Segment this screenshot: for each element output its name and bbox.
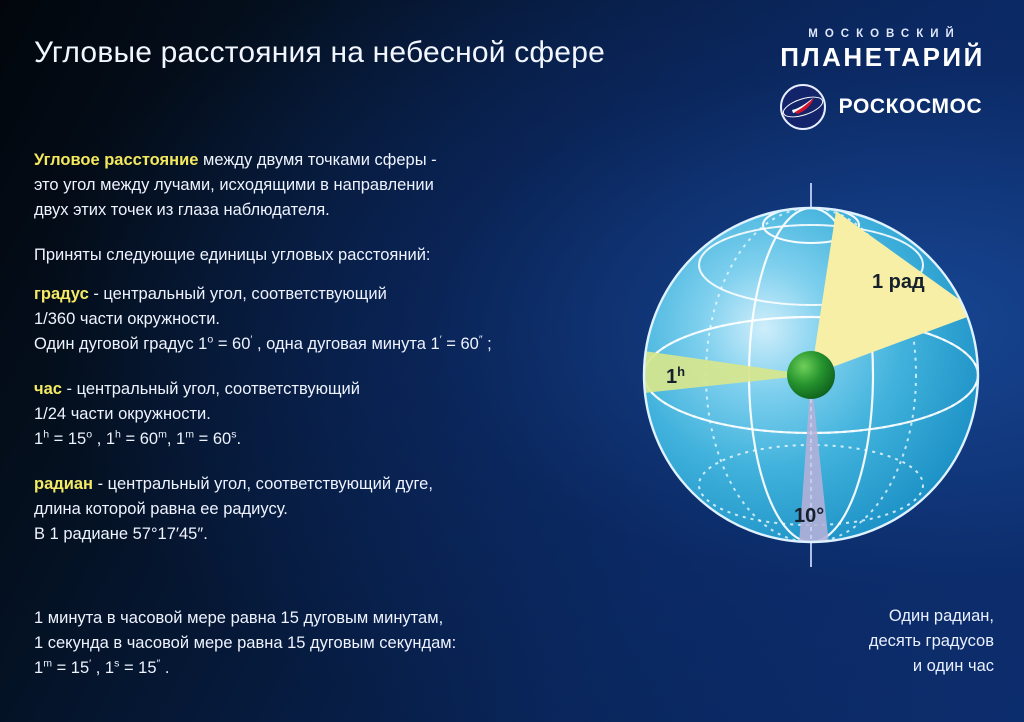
text-column: Угловое расстояние между двумя точками с… [34,148,634,567]
unit-degree-line2: 1/360 части окружности. [34,310,220,328]
conversion-line1: 1 минута в часовой мере равна 15 дуговым… [34,609,443,627]
sector-degree-label: 10° [794,505,824,527]
conversion-line2: 1 секунда в часовой мере равна 15 дуговы… [34,634,456,652]
caption-line3: и один час [913,657,994,675]
sphere-core-observer [787,351,835,399]
unit-radian-block: радиан - центральный угол, соответствующ… [34,472,634,547]
t: 1 [34,430,43,448]
celestial-sphere-figure: 1 рад 1h 10° [630,155,1010,575]
roscosmos-wordmark: РОСКОСМОС [839,95,983,119]
unit-radian-line3: В 1 радиане 57°17′45″. [34,525,208,543]
unit-hour-dash: - центральный угол, соответствующий [62,380,360,398]
t: = 60 [121,430,158,448]
sup-m2: m [185,429,194,441]
definition-rest-line1: между двумя точками сферы - [198,151,436,169]
unit-radian-dash: - центральный угол, соответствующий дуге… [93,475,433,493]
t: = 15 [49,430,86,448]
t: , одна дуговая минута 1 [252,335,439,353]
unit-hour-line2: 1/24 части окружности. [34,405,211,423]
t: = 60 [194,430,231,448]
t: . [160,659,169,677]
logo-top-line: МОСКОВСКИЙ [773,28,996,40]
unit-hour-block: час - центральный угол, соответствующий … [34,377,634,452]
t: , 1 [167,430,185,448]
unit-radian-term: радиан [34,475,93,493]
t: 1 [34,659,43,677]
unit-hour-line3: 1h = 15o , 1h = 60m, 1m = 60s. [34,430,241,448]
t: = 15 [52,659,89,677]
t: = 15 [119,659,156,677]
sector-radian-label: 1 рад [872,271,925,293]
emblem-swoosh-icon [791,97,815,115]
sup-m: m [43,658,52,670]
t: = 60 [213,335,250,353]
conversion-line3: 1m = 15′ , 1s = 15″ . [34,659,169,677]
t: ; [483,335,492,353]
t: Один дуговой градус 1 [34,335,207,353]
unit-degree-term: градус [34,285,89,303]
unit-degree-dash: - центральный угол, соответствующий [89,285,387,303]
definition-term: Угловое расстояние [34,151,198,169]
roscosmos-emblem-icon [780,84,826,130]
t: . [237,430,242,448]
unit-radian-line2: длина которой равна ее радиусу. [34,500,288,518]
page-title: Угловые расстояния на небесной сфере [34,36,605,70]
sector-hour-base: 1 [666,366,677,388]
unit-hour-term: час [34,380,62,398]
planetarium-logo: МОСКОВСКИЙ ПЛАНЕТАРИЙ РОСКОСМОС [766,28,996,130]
unit-degree-block: градус - центральный угол, соответствующ… [34,282,634,357]
t: , 1 [91,659,114,677]
t: , 1 [92,430,115,448]
caption-line1: Один радиан, [889,607,994,625]
definition-line2: это угол между лучами, исходящими в напр… [34,176,434,194]
definition-paragraph: Угловое расстояние между двумя точками с… [34,148,634,223]
caption-line2: десять градусов [869,632,994,650]
conversion-block: 1 минута в часовой мере равна 15 дуговым… [34,606,594,681]
t: = 60 [442,335,479,353]
slide-root: Угловые расстояния на небесной сфере МОС… [0,0,1024,722]
roscosmos-lockup: РОСКОСМОС [766,84,996,130]
figure-caption: Один радиан, десять градусов и один час [734,604,994,679]
units-lead: Приняты следующие единицы угловых рассто… [34,243,634,268]
definition-line3: двух этих точек из глаза наблюдателя. [34,201,330,219]
sup-m: m [158,429,167,441]
logo-main-line: ПЛАНЕТАРИЙ [769,42,996,73]
unit-degree-line3: Один дуговой градус 1o = 60′ , одна дуго… [34,335,492,353]
sector-hour-sup: h [677,364,685,379]
